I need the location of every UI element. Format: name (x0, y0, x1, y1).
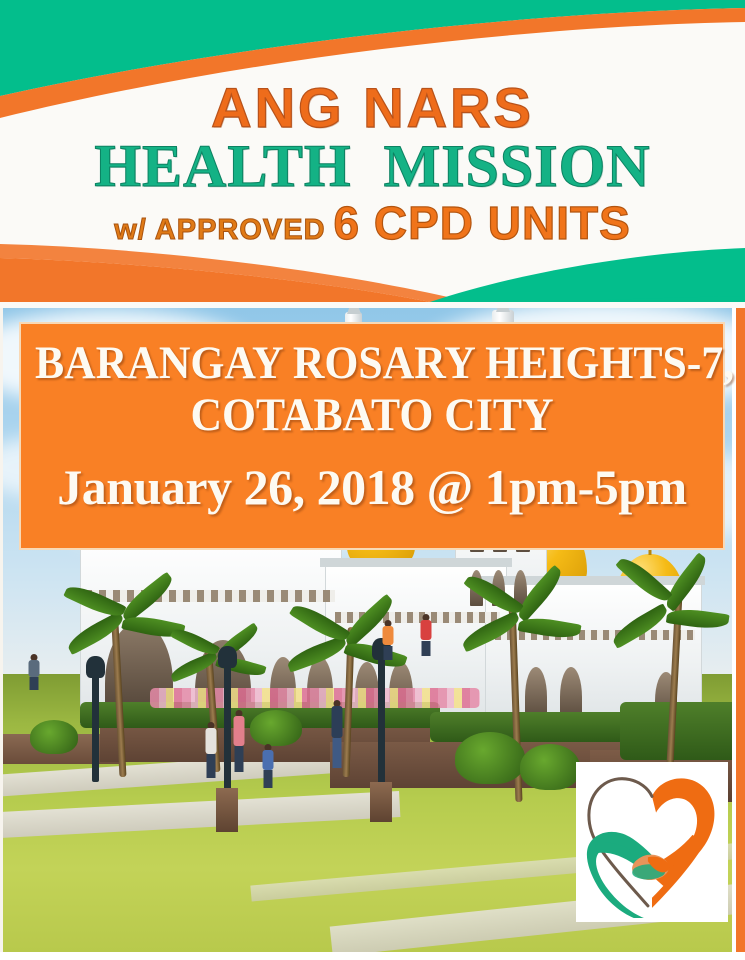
visitor-body (420, 620, 431, 640)
visitor-legs (235, 746, 244, 772)
venue-line-2: COTABATO CITY (59, 392, 686, 440)
event-datetime: January 26, 2018 @ 1pm-5pm (35, 462, 709, 513)
visitor-body (206, 728, 217, 754)
visitor-body (263, 750, 274, 770)
visitor-body (382, 626, 393, 645)
poster-title-line1: ANG NARS (0, 80, 745, 136)
visitor (330, 700, 344, 768)
visitor-legs (383, 646, 392, 660)
visitor-body (234, 716, 245, 746)
shrub (30, 720, 78, 754)
visitor-legs (421, 641, 430, 656)
subtitle-small-text: w/ APPROVED (114, 214, 325, 246)
visitor-body (28, 660, 39, 677)
visitor (28, 654, 39, 690)
venue-line-1: BARANGAY ROSARY HEIGHTS-7, (35, 340, 662, 388)
right-edge-orange-trim (736, 302, 745, 954)
lamp-base (370, 782, 392, 822)
palm-tree (315, 627, 377, 777)
lamp-post (378, 654, 385, 784)
visitor-body (332, 706, 343, 738)
frieze (85, 590, 335, 602)
poster-root: ANG NARS HEALTH MISSION w/ APPROVED6 CPD… (0, 0, 745, 960)
lamp-post (92, 672, 99, 782)
visitor-legs (333, 738, 342, 768)
shrub (250, 710, 302, 746)
organization-logo (576, 762, 728, 922)
shrub (455, 732, 525, 784)
visitor (382, 620, 393, 660)
visitor (262, 744, 274, 788)
subtitle-big-text: 6 CPD UNITS (334, 197, 631, 249)
event-details-banner: BARANGAY ROSARY HEIGHTS-7, COTABATO CITY… (19, 322, 725, 550)
lamp-base (216, 788, 238, 832)
visitor (232, 710, 246, 772)
heart-handshake-icon (580, 766, 724, 918)
visitor (420, 614, 431, 656)
poster-subtitle: w/ APPROVED6 CPD UNITS (0, 200, 745, 246)
header-banner: ANG NARS HEALTH MISSION w/ APPROVED6 CPD… (0, 0, 745, 308)
shrub (520, 744, 580, 790)
visitor-legs (29, 677, 38, 690)
left-edge-trim (0, 302, 3, 954)
lamp-post (224, 662, 231, 792)
visitor (204, 722, 218, 778)
poster-title-line2: HEALTH MISSION (0, 136, 745, 196)
visitor-legs (207, 754, 216, 778)
header-text-group: ANG NARS HEALTH MISSION w/ APPROVED6 CPD… (0, 0, 745, 308)
visitor-legs (264, 770, 273, 788)
cornice (320, 558, 512, 567)
bottom-edge-trim (0, 952, 745, 960)
